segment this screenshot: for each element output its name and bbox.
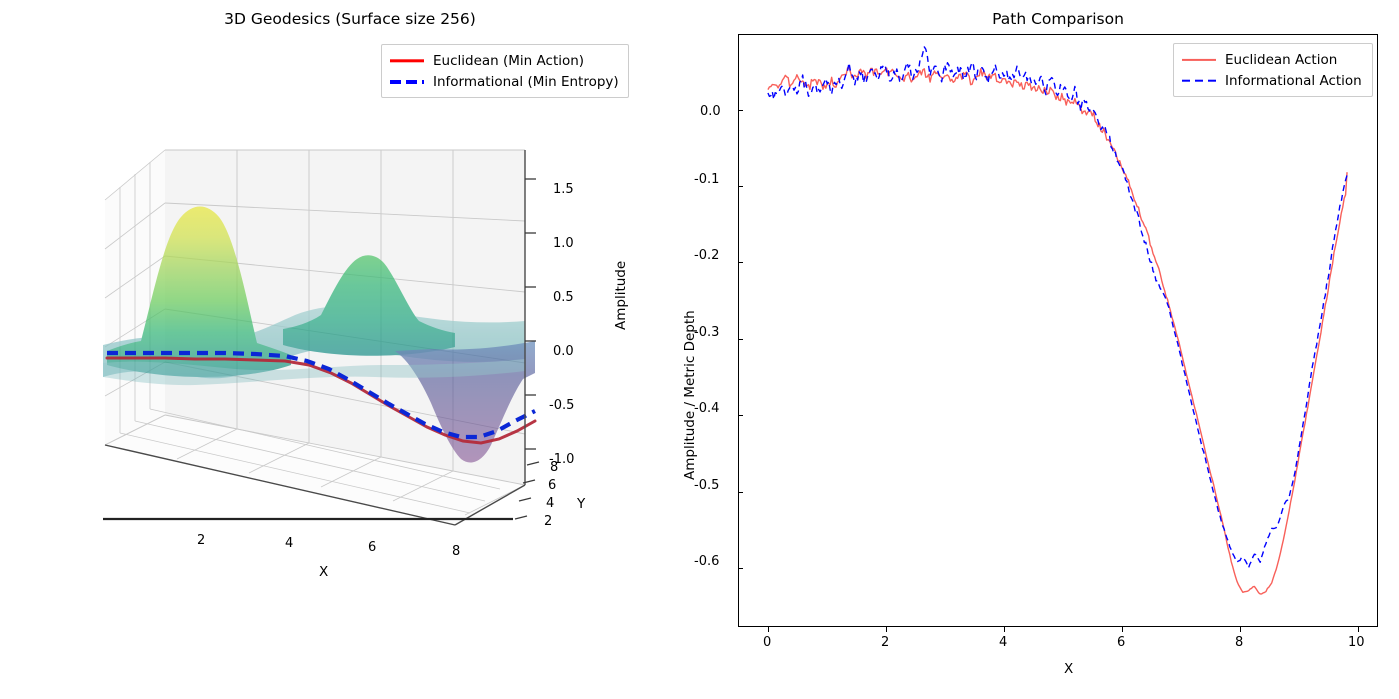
axis-tick [768, 627, 769, 632]
legend-item: Informational Action [1182, 70, 1364, 91]
y2d-axis-label: Amplitude / Metric Depth [682, 310, 698, 480]
y3d-axis-label: Y [577, 496, 585, 512]
axis-tick [738, 262, 743, 263]
legend-item: Euclidean Action [1182, 49, 1364, 70]
legend-item: Euclidean (Min Action) [390, 50, 620, 71]
legend-label: Informational Action [1225, 73, 1362, 89]
x2d-tick: 8 [1235, 635, 1243, 650]
x2d-tick: 2 [881, 635, 889, 650]
y2d-tick: 0.0 [700, 104, 721, 119]
axis-tick [738, 492, 743, 493]
line-swatch-icon [390, 75, 424, 89]
axis-tick [1004, 627, 1005, 632]
axis-tick [886, 627, 887, 632]
x2d-tick: 4 [999, 635, 1007, 650]
line-swatch-icon [1182, 74, 1216, 88]
y2d-tick: -0.1 [694, 172, 719, 187]
axis-tick [738, 186, 743, 187]
axis-tick [1122, 627, 1123, 632]
legend-label: Informational (Min Entropy) [433, 74, 619, 90]
y3d-tick: 6 [548, 478, 556, 493]
line-swatch-icon [390, 54, 424, 68]
z3d-tick: -0.5 [549, 398, 574, 413]
z3d-tick: 1.5 [553, 182, 574, 197]
z3d-tick: 1.0 [553, 236, 574, 251]
right-panel-legend[interactable]: Euclidean Action Informational Action [1173, 43, 1373, 97]
path-comparison-axes[interactable] [738, 34, 1378, 627]
z3d-tick: 0.5 [553, 290, 574, 305]
axis-tick [738, 110, 743, 111]
axis-tick [738, 339, 743, 340]
legend-label: Euclidean Action [1225, 52, 1337, 68]
left-panel-title: 3D Geodesics (Surface size 256) [140, 10, 560, 28]
y2d-tick: -0.5 [694, 478, 719, 493]
legend-label: Euclidean (Min Action) [433, 53, 584, 69]
left-panel-legend[interactable]: Euclidean (Min Action) Informational (Mi… [381, 44, 629, 98]
z3d-tick: -1.0 [549, 452, 574, 467]
y3d-tick: 4 [546, 496, 554, 511]
z3d-tick: 0.0 [553, 344, 574, 359]
x2d-axis-label: X [1064, 661, 1073, 677]
y3d-tick: 2 [544, 514, 552, 529]
axis-tick [738, 568, 743, 569]
right-panel-title: Path Comparison [838, 10, 1278, 28]
x2d-tick: 6 [1117, 635, 1125, 650]
axis-tick [1240, 627, 1241, 632]
x3d-axis-label: X [319, 564, 328, 580]
legend-item: Informational (Min Entropy) [390, 71, 620, 92]
geodesics-3d-axes[interactable] [95, 115, 615, 585]
geodesics-3d-canvas [95, 115, 615, 585]
x3d-tick: 8 [452, 544, 460, 559]
matplotlib-figure: 3D Geodesics (Surface size 256) Euclidea… [0, 0, 1399, 699]
x2d-tick: 10 [1348, 635, 1365, 650]
series-line [768, 47, 1347, 568]
x3d-tick: 2 [197, 533, 205, 548]
axis-tick [738, 415, 743, 416]
series-line [768, 68, 1347, 594]
z3d-axis-label: Amplitude [613, 261, 629, 330]
x3d-tick: 4 [285, 536, 293, 551]
path-comparison-canvas [739, 35, 1376, 625]
y2d-tick: -0.2 [694, 248, 719, 263]
x3d-tick: 6 [368, 540, 376, 555]
y2d-tick: -0.6 [694, 554, 719, 569]
line-swatch-icon [1182, 53, 1216, 67]
axis-tick [1358, 627, 1359, 632]
x2d-tick: 0 [763, 635, 771, 650]
